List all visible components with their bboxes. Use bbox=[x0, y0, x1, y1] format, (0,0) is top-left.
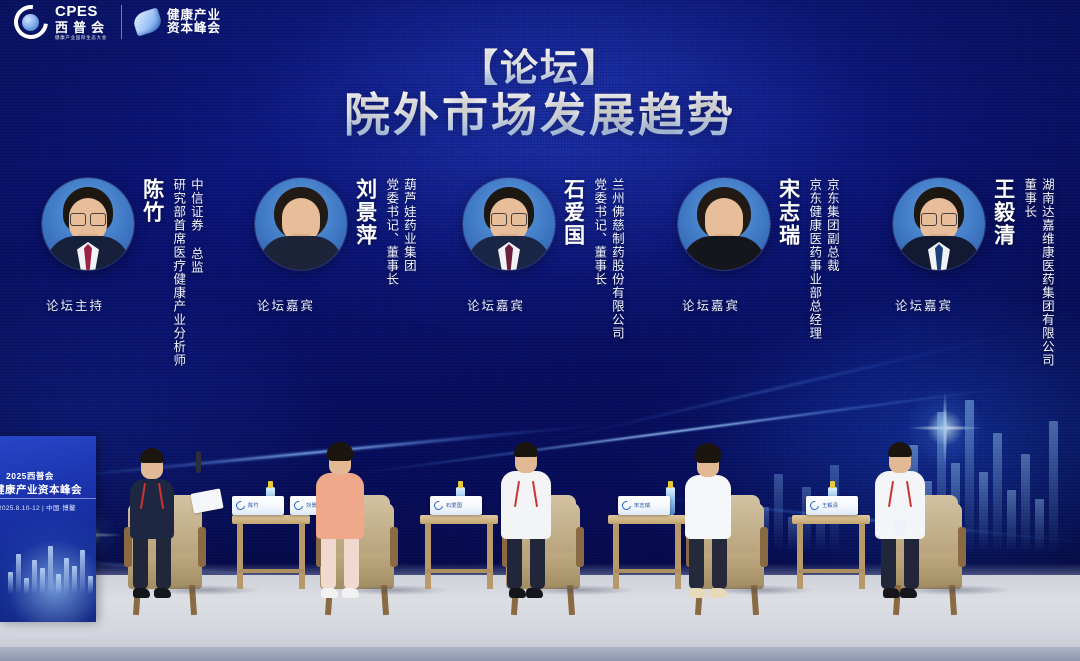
panelist-title-2-0: 兰州佛慈制药股份有限公司 bbox=[608, 178, 624, 340]
nameplate-text-4: 王毅清 bbox=[822, 502, 838, 509]
panelist-title-0-1: 研究部首席医疗健康产业分析师 bbox=[170, 178, 186, 367]
panelist-role-2: 论坛嘉宾 bbox=[467, 295, 525, 314]
event-rollup-banner: 2025西普会 健康产业资本峰会 2025.8.10-12 | 中国·博鳌 bbox=[0, 436, 96, 622]
nameplate-4: 王毅清 bbox=[806, 496, 858, 515]
event-logo-bar: CPES 西普会 健康产业国际生态大会 健康产业 资本峰会 bbox=[14, 4, 221, 41]
nameplate-text-2: 石爱国 bbox=[446, 502, 462, 509]
nameplate-logo-icon-1 bbox=[292, 499, 305, 512]
panelist-name-4: 王毅清 bbox=[991, 178, 1014, 247]
stage-side-table-3 bbox=[792, 515, 870, 589]
panelist-card-0: 陈竹 中信证券 总监 研究部首席医疗健康产业分析师 论坛主持 bbox=[42, 178, 203, 367]
nameplate-text-0: 陈竹 bbox=[248, 502, 259, 509]
nameplate-0: 陈竹 bbox=[232, 496, 284, 515]
panelist-title-3-1: 京东健康医药事业部总经理 bbox=[806, 178, 822, 340]
forum-title-block: 【论坛】 院外市场发展趋势 bbox=[0, 48, 1080, 141]
panelist-name-1: 刘景萍 bbox=[353, 178, 376, 247]
nameplate-logo-icon-2 bbox=[432, 499, 445, 512]
panelist-title-1-0: 葫芦娃药业集团 bbox=[400, 178, 416, 286]
cpes-logo-sub: 健康产业国际生态大会 bbox=[55, 36, 109, 41]
panelist-title-0-0: 中信证券 总监 bbox=[187, 178, 203, 367]
panelist-role-1: 论坛嘉宾 bbox=[257, 295, 315, 314]
cpes-logo-en: CPES bbox=[55, 4, 109, 19]
panelist-title-4-1: 董事长 bbox=[1021, 178, 1037, 367]
banner-line2: 健康产业资本峰会 bbox=[0, 482, 82, 497]
stage-side-table-0 bbox=[232, 515, 310, 589]
banner-bar-chart bbox=[8, 546, 93, 594]
nameplate-logo-icon-4 bbox=[808, 499, 821, 512]
panelist-card-2: 石爱国 兰州佛慈制药股份有限公司 党委书记、董事长 论坛嘉宾 bbox=[463, 178, 624, 340]
nameplate-logo-icon-3 bbox=[620, 499, 633, 512]
panelist-card-1: 刘景萍 葫芦娃药业集团 党委书记、董事长 论坛嘉宾 bbox=[255, 178, 416, 286]
panelist-name-2: 石爱国 bbox=[561, 178, 584, 247]
panelist-photo-1 bbox=[255, 178, 347, 270]
leaf-icon bbox=[131, 8, 163, 37]
panelist-name-3: 宋志瑞 bbox=[776, 178, 799, 247]
panelist-photo-2 bbox=[463, 178, 555, 270]
banner-line1: 2025西普会 bbox=[6, 470, 54, 482]
nameplate-3: 宋志瑞 bbox=[618, 496, 670, 515]
panelist-title-2-1: 党委书记、董事长 bbox=[591, 178, 607, 340]
health-summit-logo: 健康产业 资本峰会 bbox=[134, 9, 221, 35]
panelist-photo-4 bbox=[893, 178, 985, 270]
cpes-logo-cn: 西普会 bbox=[55, 21, 109, 34]
cpes-ring-icon bbox=[14, 5, 48, 39]
panelist-photo-0 bbox=[42, 178, 134, 270]
forum-title-line1: 【论坛】 bbox=[0, 48, 1080, 91]
conference-stage-screenshot: CPES 西普会 健康产业国际生态大会 健康产业 资本峰会 【论坛】 院外市场发… bbox=[0, 0, 1080, 661]
nameplate-logo-icon-0 bbox=[234, 499, 247, 512]
forum-title-line2: 院外市场发展趋势 bbox=[0, 89, 1080, 142]
nameplate-text-3: 宋志瑞 bbox=[634, 502, 650, 509]
cpes-logo: CPES 西普会 健康产业国际生态大会 bbox=[14, 4, 109, 41]
stage-side-table-2 bbox=[608, 515, 686, 589]
panelist-name-0: 陈竹 bbox=[140, 178, 163, 224]
panelist-role-3: 论坛嘉宾 bbox=[682, 295, 740, 314]
stage-side-table-1 bbox=[420, 515, 498, 589]
panelist-role-0: 论坛主持 bbox=[46, 295, 104, 314]
panelist-card-3: 宋志瑞 京东集团副总裁 京东健康医药事业部总经理 论坛嘉宾 bbox=[678, 178, 839, 340]
panelist-title-1-1: 党委书记、董事长 bbox=[383, 178, 399, 286]
panelist-card-4: 王毅清 湖南达嘉维康医药集团有限公司 董事长 论坛嘉宾 bbox=[893, 178, 1054, 367]
panelist-role-4: 论坛嘉宾 bbox=[895, 295, 953, 314]
panelist-list: 陈竹 中信证券 总监 研究部首席医疗健康产业分析师 论坛主持 刘景萍 葫芦娃药业… bbox=[0, 178, 1080, 428]
banner-line3: 2025.8.10-12 | 中国·博鳌 bbox=[0, 502, 76, 512]
logo-divider bbox=[121, 5, 122, 39]
health-logo-line2: 资本峰会 bbox=[167, 22, 221, 35]
nameplate-2: 石爱国 bbox=[430, 496, 482, 515]
handheld-microphone bbox=[196, 451, 201, 473]
panelist-photo-3 bbox=[678, 178, 770, 270]
panelist-title-4-0: 湖南达嘉维康医药集团有限公司 bbox=[1038, 178, 1054, 367]
banner-divider bbox=[0, 498, 96, 499]
panelist-title-3-0: 京东集团副总裁 bbox=[823, 178, 839, 340]
